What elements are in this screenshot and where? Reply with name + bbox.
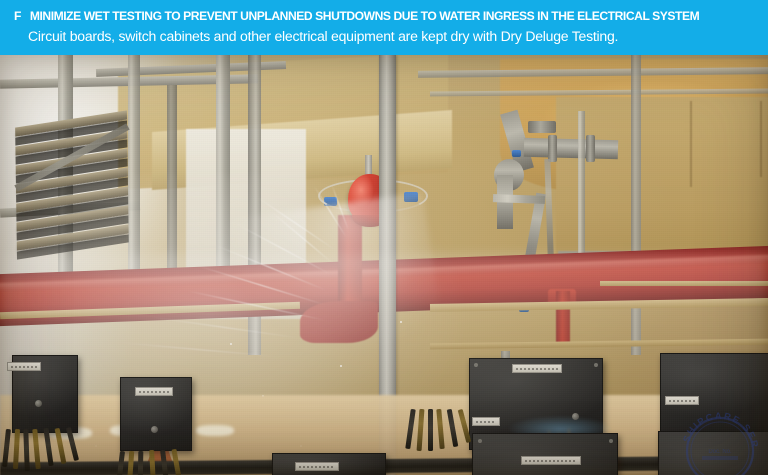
cabinet-label-plate <box>472 417 500 426</box>
banner-item-letter: F <box>14 9 21 23</box>
electrical-cabinet <box>658 431 768 475</box>
banner-subhead: Circuit boards, switch cabinets and othe… <box>28 29 761 46</box>
cabinet-label-plate <box>521 456 581 465</box>
electrical-cabinet <box>472 433 618 475</box>
cabinet-label-plate <box>512 364 562 373</box>
banner-headline-text: MINIMIZE WET TESTING TO PREVENT UNPLANNE… <box>30 9 699 23</box>
header-banner: FMINIMIZE WET TESTING TO PREVENT UNPLANN… <box>0 0 768 55</box>
banner-headline: FMINIMIZE WET TESTING TO PREVENT UNPLANN… <box>14 9 755 23</box>
cabinet-label-plate <box>7 362 41 371</box>
scene-photograph: SHIPCARE SERVICES Doc. No. <box>0 55 768 475</box>
cable-bundle <box>404 403 474 473</box>
cable-bundle <box>0 415 470 475</box>
page-root: FMINIMIZE WET TESTING TO PREVENT UNPLANN… <box>0 0 768 475</box>
electrical-cabinet <box>660 353 768 433</box>
cabinet-label-plate <box>135 387 173 396</box>
cabinet-label-plate <box>665 396 699 405</box>
